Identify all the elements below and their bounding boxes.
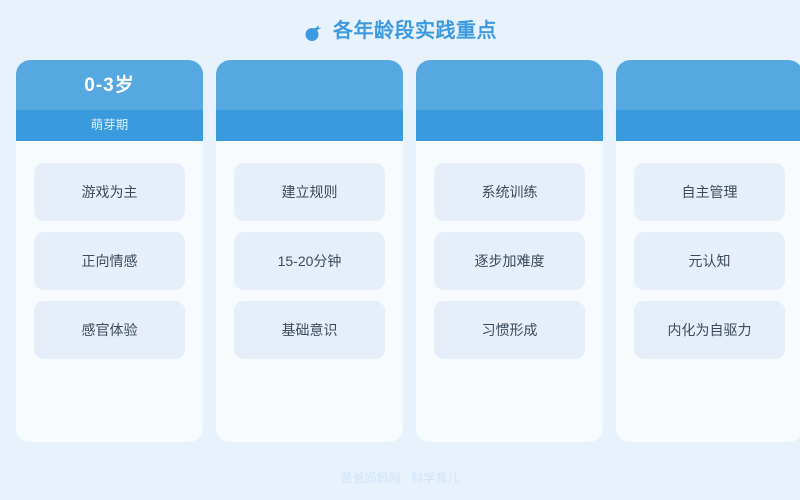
point-pill[interactable]: 系统训练 bbox=[434, 163, 585, 221]
point-pill[interactable]: 游戏为主 bbox=[34, 163, 185, 221]
stage-card-header bbox=[216, 60, 403, 141]
point-pill[interactable]: 建立规则 bbox=[234, 163, 385, 221]
point-pill[interactable]: 元认知 bbox=[634, 232, 785, 290]
stage-cards-row: 0-3岁 萌芽期 游戏为主 正向情感 感官体验 建立规则 15-20分钟 基础意… bbox=[16, 60, 800, 442]
stage-card-subtitle bbox=[416, 110, 603, 141]
stage-card-body: 自主管理 元认知 内化为自驱力 bbox=[616, 141, 800, 442]
stage-card[interactable]: 自主管理 元认知 内化为自驱力 bbox=[616, 60, 800, 442]
stage-card[interactable]: 建立规则 15-20分钟 基础意识 bbox=[216, 60, 403, 442]
stage-card[interactable]: 0-3岁 萌芽期 游戏为主 正向情感 感官体验 bbox=[16, 60, 203, 442]
stage-card-body: 系统训练 逐步加难度 习惯形成 bbox=[416, 141, 603, 442]
point-pill[interactable]: 基础意识 bbox=[234, 301, 385, 359]
stage-card-title bbox=[416, 60, 603, 110]
stage-card-title bbox=[216, 60, 403, 110]
page-title: 各年龄段实践重点 bbox=[333, 21, 497, 41]
stage-card-title: 0-3岁 bbox=[16, 60, 203, 110]
stage-card[interactable]: 系统训练 逐步加难度 习惯形成 bbox=[416, 60, 603, 442]
point-pill[interactable]: 内化为自驱力 bbox=[634, 301, 785, 359]
point-pill[interactable]: 15-20分钟 bbox=[234, 232, 385, 290]
sprout-icon bbox=[303, 21, 325, 43]
stage-card-body: 建立规则 15-20分钟 基础意识 bbox=[216, 141, 403, 442]
stage-card-subtitle bbox=[216, 110, 403, 141]
page-header: 各年龄段实践重点 bbox=[0, 0, 800, 56]
stage-card-title bbox=[616, 60, 800, 110]
stage-card-subtitle: 萌芽期 bbox=[16, 110, 203, 141]
stage-card-subtitle bbox=[616, 110, 800, 141]
point-pill[interactable]: 逐步加难度 bbox=[434, 232, 585, 290]
stage-card-header bbox=[416, 60, 603, 141]
point-pill[interactable]: 感官体验 bbox=[34, 301, 185, 359]
page-footer: 爸爸妈妈网 · 科学育儿 bbox=[0, 472, 800, 484]
stage-card-header: 0-3岁 萌芽期 bbox=[16, 60, 203, 141]
point-pill[interactable]: 正向情感 bbox=[34, 232, 185, 290]
point-pill[interactable]: 习惯形成 bbox=[434, 301, 585, 359]
stage-card-body: 游戏为主 正向情感 感官体验 bbox=[16, 141, 203, 442]
stage-card-header bbox=[616, 60, 800, 141]
point-pill[interactable]: 自主管理 bbox=[634, 163, 785, 221]
